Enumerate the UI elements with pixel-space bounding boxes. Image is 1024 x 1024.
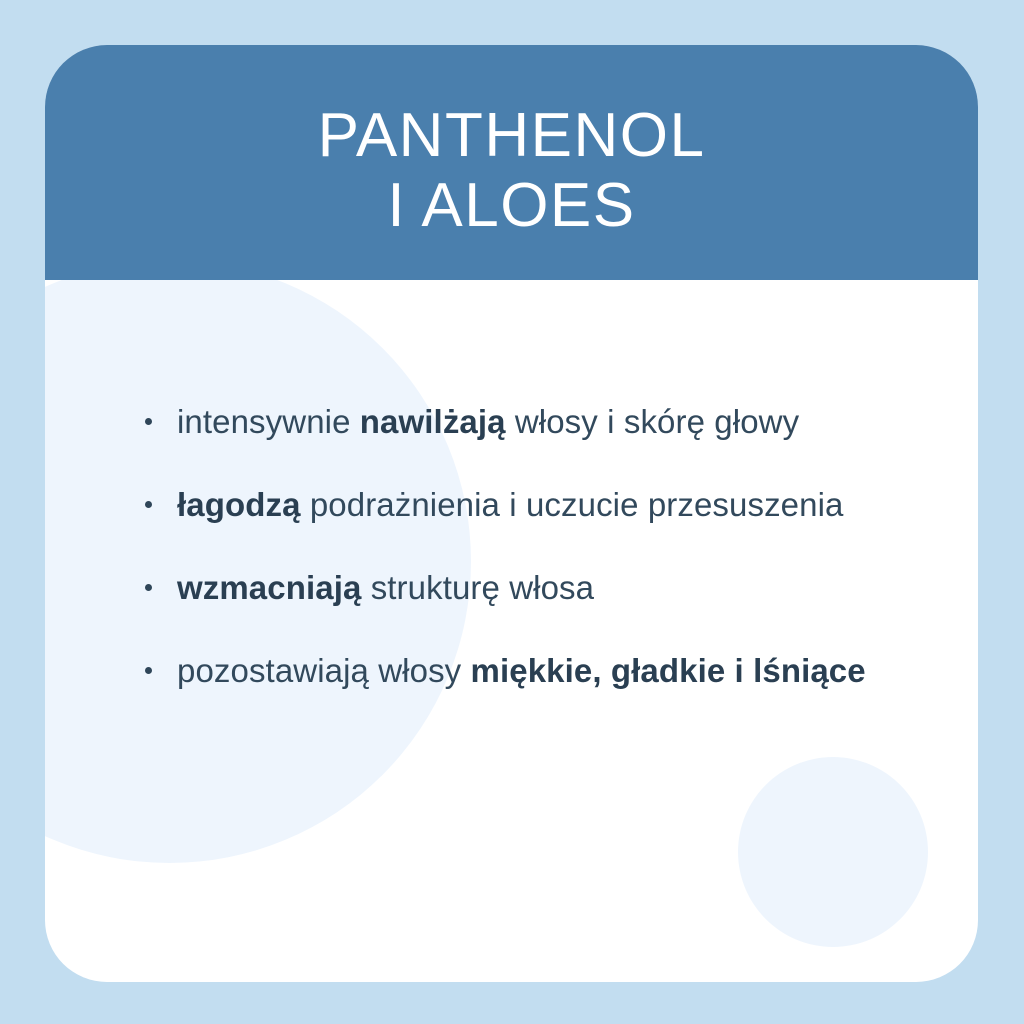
decorative-circle-bottom-right [738, 757, 928, 947]
list-item: łagodzą podrażnienia i uczucie przesusze… [141, 483, 881, 526]
card-header-band: PANTHENOL I ALOES [45, 45, 978, 280]
list-item-text: łagodzą podrażnienia i uczucie przesusze… [177, 486, 843, 523]
bullet-dot-icon [145, 584, 152, 591]
bullet-dot-icon [145, 667, 152, 674]
list-item: intensywnie nawilżają włosy i skórę głow… [141, 400, 881, 443]
list-item-text: intensywnie nawilżają włosy i skórę głow… [177, 403, 799, 440]
slide-canvas: PANTHENOL I ALOES intensywnie nawilżają … [0, 0, 1024, 1024]
page-title: PANTHENOL I ALOES [45, 45, 978, 241]
info-card: PANTHENOL I ALOES intensywnie nawilżają … [45, 45, 978, 982]
list-item: wzmacniają strukturę włosa [141, 566, 881, 609]
title-line-1: PANTHENOL [45, 101, 978, 171]
title-line-2: I ALOES [45, 171, 978, 241]
benefits-list: intensywnie nawilżają włosy i skórę głow… [141, 400, 881, 692]
bullet-dot-icon [145, 418, 152, 425]
list-item-text: wzmacniają strukturę włosa [177, 569, 594, 606]
list-item: pozostawiają włosy miękkie, gładkie i lś… [141, 649, 881, 692]
bullet-dot-icon [145, 501, 152, 508]
list-item-text: pozostawiają włosy miękkie, gładkie i lś… [177, 652, 866, 689]
